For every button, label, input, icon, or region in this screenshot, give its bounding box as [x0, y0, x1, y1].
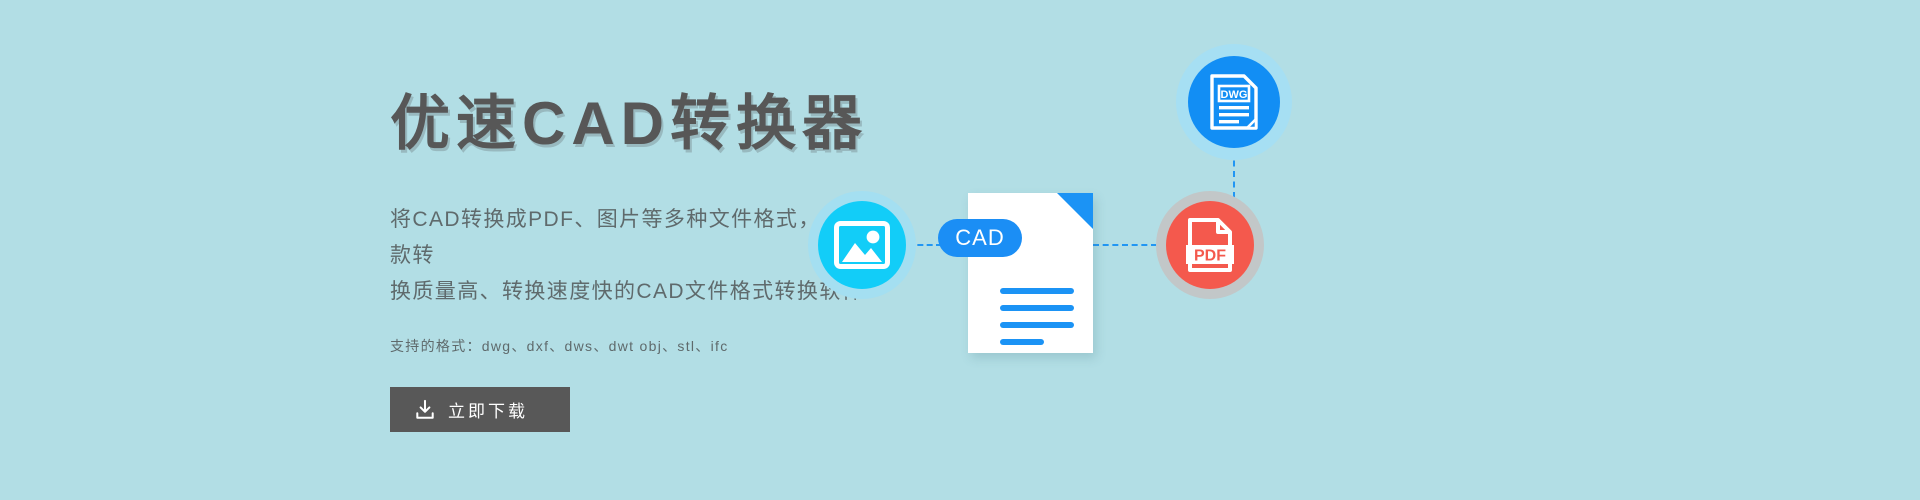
download-icon: [414, 399, 436, 421]
download-button[interactable]: 立即下载: [390, 387, 570, 432]
cad-badge: CAD: [938, 219, 1022, 257]
hero-text-block: 优速CAD转换器 将CAD转换成PDF、图片等多种文件格式，是一款转 换质量高、…: [390, 92, 1010, 432]
document-text-line: [1000, 288, 1074, 294]
dwg-badge-text: DWG: [1221, 89, 1248, 101]
dwg-node[interactable]: DWG: [1188, 56, 1280, 148]
cad-document: CAD: [968, 193, 1093, 353]
image-node[interactable]: [818, 201, 906, 289]
conversion-diagram: DWG PDF: [960, 0, 1600, 500]
supported-formats-label: 支持的格式：dwg、dxf、dws、dwt obj、stl、ifc: [390, 310, 1010, 356]
cad-converter-banner: 优速CAD转换器 将CAD转换成PDF、图片等多种文件格式，是一款转 换质量高、…: [0, 0, 1920, 500]
pdf-file-icon: PDF: [1184, 217, 1236, 273]
document-text-line: [1000, 305, 1074, 311]
cad-document-fold-corner: [1057, 193, 1093, 229]
page-title: 优速CAD转换器: [390, 92, 1010, 155]
cad-badge-label: CAD: [955, 225, 1004, 251]
hero-description: 将CAD转换成PDF、图片等多种文件格式，是一款转 换质量高、转换速度快的CAD…: [390, 155, 880, 310]
download-button-label: 立即下载: [448, 397, 528, 422]
pdf-badge-text: PDF: [1194, 248, 1226, 265]
description-line-2: 换质量高、转换速度快的CAD文件格式转换软件: [390, 280, 864, 303]
document-text-line: [1000, 322, 1074, 328]
pdf-node[interactable]: PDF: [1166, 201, 1254, 289]
dwg-file-icon: DWG: [1208, 73, 1260, 131]
description-line-1: 将CAD转换成PDF、图片等多种文件格式，是一款转: [390, 208, 866, 267]
document-text-line: [1000, 339, 1044, 345]
image-icon: [834, 221, 890, 269]
connector-document-to-pdf: [1093, 244, 1157, 246]
